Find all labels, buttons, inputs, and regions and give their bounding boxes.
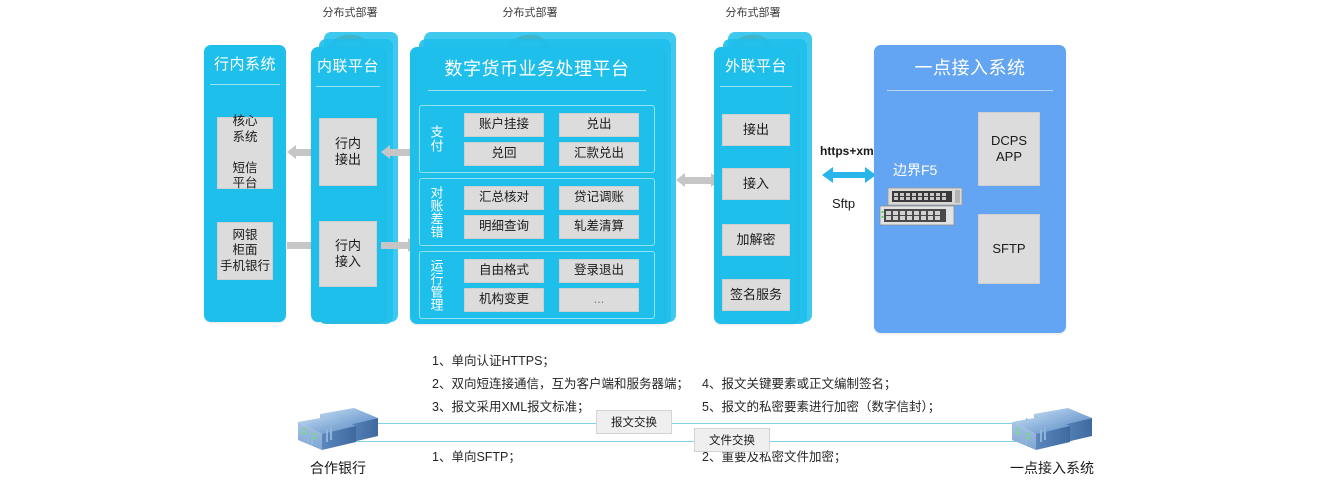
chip-sftp[interactable]: SFTP (978, 214, 1040, 284)
chip-credit-adjust[interactable]: 贷记调账 (559, 186, 639, 210)
note-file-left-1: 1、单向SFTP； (432, 448, 521, 467)
file-exchange-tag[interactable]: 文件交换 (694, 428, 770, 452)
chip-login-logout[interactable]: 登录退出 (559, 259, 639, 283)
chip-dcps-app[interactable]: DCPS APP (978, 112, 1040, 186)
panel-single-access-title: 一点接入系统 (874, 45, 1066, 91)
chip-account-link[interactable]: 账户挂接 (464, 113, 544, 137)
message-exchange-line (344, 423, 1028, 424)
title-divider (720, 86, 792, 87)
deploy-label-extranet: 分布式部署 (713, 4, 793, 20)
deploy-label-dc-platform: 分布式部署 (490, 4, 570, 20)
chip-exchange-back[interactable]: 兑回 (464, 142, 544, 166)
partner-bank-label: 合作银行 (292, 458, 384, 478)
service-group-operations-label: 运行管理 (424, 252, 448, 318)
title-divider (428, 90, 646, 91)
note-msg-left-2: 2、双向短连接通信，互为客户端和服务器端； (432, 375, 689, 394)
chip-signature-service[interactable]: 签名服务 (722, 279, 790, 311)
chip-ebank-counter-mobile[interactable]: 网银 柜面 手机银行 (217, 222, 273, 280)
panel-intranet-title: 内联平台 (311, 47, 385, 87)
service-group-payment-label: 支付 (424, 106, 448, 172)
f5-switch-icon (876, 186, 972, 230)
panel-core-bank-title: 行内系统 (204, 45, 286, 85)
title-divider (887, 90, 1052, 91)
service-group-reconciliation-label: 对账差错 (424, 179, 448, 245)
chip-core-system[interactable]: 核心 系统 短信 平台 (217, 117, 273, 189)
note-msg-left-1: 1、单向认证HTTPS； (432, 352, 555, 371)
chip-extranet-outbound[interactable]: 接出 (722, 114, 790, 146)
link-label-https-xml: https+xml (820, 144, 877, 158)
chip-intranet-inbound[interactable]: 行内 接入 (319, 221, 377, 287)
f5-device-label: 边界F5 (893, 160, 937, 180)
chip-encrypt-decrypt[interactable]: 加解密 (722, 224, 790, 256)
note-msg-right-5: 5、报文的私密要素进行加密（数字信封）； (702, 398, 940, 417)
panel-extranet-title: 外联平台 (714, 47, 798, 87)
deploy-label-intranet: 分布式部署 (310, 4, 390, 20)
partner-bank-server-icon (292, 404, 384, 452)
title-divider (316, 86, 380, 87)
single-access-server-icon (1006, 404, 1098, 452)
link-label-sftp: Sftp (832, 196, 855, 211)
chip-intranet-outbound[interactable]: 行内 接出 (319, 118, 377, 186)
note-msg-right-4: 4、报文关键要素或正文编制签名； (702, 375, 896, 394)
chip-remittance-out[interactable]: 汇款兑出 (559, 142, 639, 166)
title-divider (210, 84, 281, 85)
arrow-extranet-to-access-bidirectional (822, 167, 876, 183)
panel-dc-platform-title: 数字货币业务处理平台 (410, 47, 664, 91)
chip-extranet-inbound[interactable]: 接入 (722, 168, 790, 200)
file-exchange-line (344, 441, 1028, 442)
message-exchange-tag[interactable]: 报文交换 (596, 410, 672, 434)
diagram-canvas: 分布式部署 分布式部署 分布式部署 行内系统 核心 系统 短信 平台 网银 柜面… (0, 0, 1333, 483)
note-msg-left-3: 3、报文采用XML报文标准； (432, 398, 590, 417)
chip-summary-check[interactable]: 汇总核对 (464, 186, 544, 210)
chip-detail-query[interactable]: 明细查询 (464, 215, 544, 239)
single-access-server-label: 一点接入系统 (1000, 458, 1104, 478)
chip-more[interactable]: ... (559, 288, 639, 312)
chip-org-change[interactable]: 机构变更 (464, 288, 544, 312)
chip-exchange-out[interactable]: 兑出 (559, 113, 639, 137)
chip-free-format[interactable]: 自由格式 (464, 259, 544, 283)
chip-netting-settlement[interactable]: 轧差清算 (559, 215, 639, 239)
